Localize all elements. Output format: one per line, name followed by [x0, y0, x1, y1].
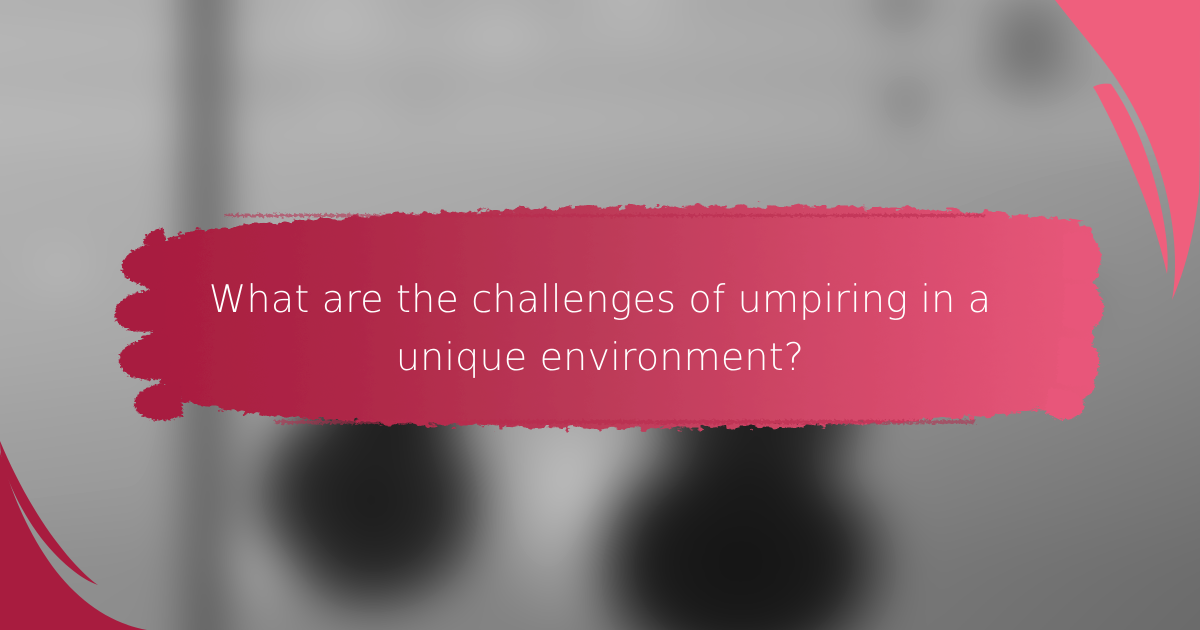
headline-text: What are the challenges of umpiring in a… [150, 270, 1050, 386]
social-card-canvas: What are the challenges of umpiring in a… [0, 0, 1200, 630]
